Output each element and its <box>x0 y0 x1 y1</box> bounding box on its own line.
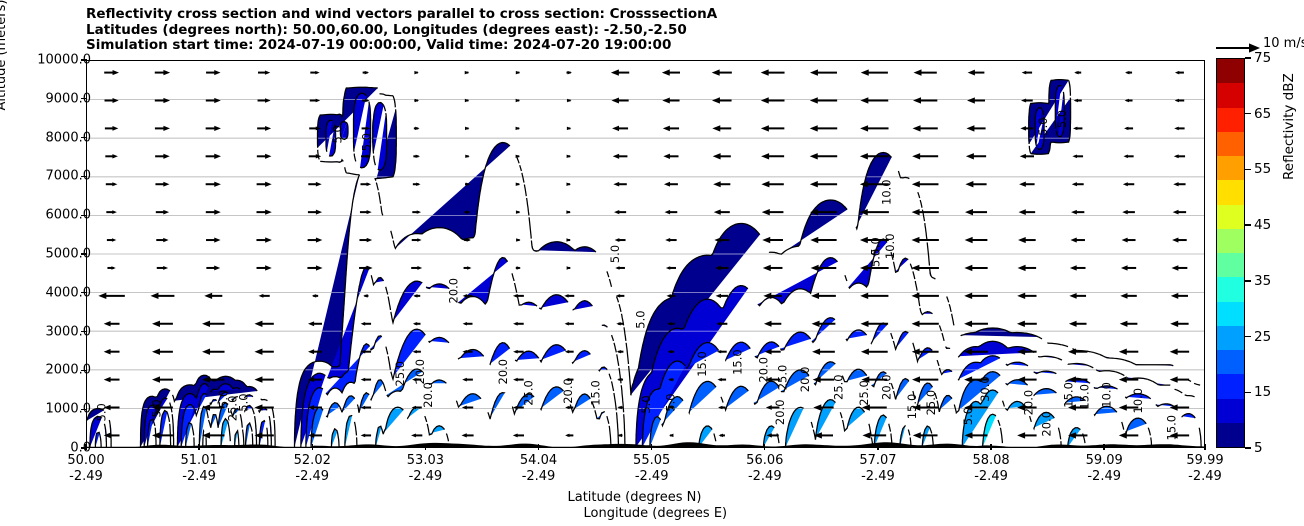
x-tick-longitude: -2.49 <box>861 469 895 484</box>
svg-text:5.0: 5.0 <box>360 133 374 151</box>
x-tick-label: 52.02-2.49 <box>294 453 331 485</box>
x-tick-longitude: -2.49 <box>974 469 1008 484</box>
x-tick-mark <box>990 444 991 450</box>
x-tick-longitude: -2.49 <box>748 469 782 484</box>
y-tick-mark <box>81 176 87 177</box>
colorbar-band <box>1217 180 1244 204</box>
svg-text:5.0: 5.0 <box>961 407 975 425</box>
svg-text:5.0: 5.0 <box>664 393 678 411</box>
colorbar <box>1216 58 1245 448</box>
x-tick-mark <box>85 444 86 450</box>
x-tick-label: 50.00-2.49 <box>67 453 104 485</box>
x-tick-mark <box>764 444 765 450</box>
colorbar-tick-label: 35 <box>1254 273 1271 289</box>
x-tick-label: 55.05-2.49 <box>633 453 670 485</box>
svg-text:5.0: 5.0 <box>95 403 109 421</box>
cross-section-plot: 5.05.05.05.025.05.05.025.020.020.020.025… <box>87 61 1204 447</box>
x-tick-latitude: 50.00 <box>67 453 104 468</box>
colorbar-band <box>1217 277 1244 301</box>
svg-text:25.0: 25.0 <box>831 374 845 400</box>
svg-text:25.0: 25.0 <box>857 380 871 406</box>
x-tick-longitude: -2.49 <box>522 469 556 484</box>
svg-text:25.0: 25.0 <box>924 390 938 416</box>
title-line-2: Latitudes (degrees north): 50.00,60.00, … <box>86 23 1086 39</box>
svg-text:5.0: 5.0 <box>639 395 653 413</box>
x-tick-latitude: 55.05 <box>633 453 670 468</box>
x-tick-longitude: -2.49 <box>409 469 443 484</box>
colorbar-tick-mark <box>1245 169 1251 170</box>
y-tick-mark <box>81 331 87 332</box>
svg-text:10.0: 10.0 <box>883 233 897 259</box>
svg-text:20.0: 20.0 <box>773 399 787 425</box>
colorbar-band <box>1217 253 1244 277</box>
colorbar-tick-label: 75 <box>1254 50 1271 66</box>
svg-text:5.0: 5.0 <box>1055 110 1069 128</box>
svg-text:15.0: 15.0 <box>695 351 709 377</box>
svg-text:10.0: 10.0 <box>1100 382 1114 408</box>
x-tick-mark <box>198 444 199 450</box>
x-tick-latitude: 58.08 <box>972 453 1009 468</box>
svg-text:20.0: 20.0 <box>880 374 894 400</box>
svg-text:20.0: 20.0 <box>1039 411 1053 437</box>
svg-text:20.0: 20.0 <box>561 378 575 404</box>
colorbar-band <box>1217 83 1244 107</box>
svg-text:20.0: 20.0 <box>421 382 435 408</box>
y-tick-mark <box>81 215 87 216</box>
colorbar-band <box>1217 374 1244 398</box>
svg-text:20.0: 20.0 <box>447 278 461 304</box>
colorbar-tick-mark <box>1245 336 1251 337</box>
colorbar-tick-label: 5 <box>1254 440 1263 456</box>
svg-text:20.0: 20.0 <box>798 367 812 393</box>
x-tick-mark <box>877 444 878 450</box>
colorbar-band <box>1217 326 1244 350</box>
svg-text:15.0: 15.0 <box>589 380 603 406</box>
x-tick-label: 58.08-2.49 <box>972 453 1009 485</box>
x-tick-longitude: -2.49 <box>182 469 216 484</box>
colorbar-tick-mark <box>1245 392 1251 393</box>
title-line-1: Reflectivity cross section and wind vect… <box>86 7 1086 23</box>
colorbar-tick-mark <box>1245 57 1251 58</box>
x-tick-latitude: 51.01 <box>181 453 218 468</box>
svg-text:25.0: 25.0 <box>393 361 407 387</box>
x-tick-latitude: 59.09 <box>1086 453 1123 468</box>
x-tick-mark <box>1103 444 1104 450</box>
svg-text:5.0: 5.0 <box>608 245 622 263</box>
svg-text:15.0: 15.0 <box>731 349 745 375</box>
svg-text:20.0: 20.0 <box>496 359 510 385</box>
colorbar-tick-label: 65 <box>1254 106 1271 122</box>
colorbar-band <box>1217 108 1244 132</box>
x-tick-longitude: -2.49 <box>635 469 669 484</box>
svg-text:10.0: 10.0 <box>1131 388 1145 414</box>
x-tick-longitude: -2.49 <box>295 469 329 484</box>
x-tick-latitude: 52.02 <box>294 453 331 468</box>
x-tick-longitude: -2.49 <box>1087 469 1121 484</box>
svg-text:25.0: 25.0 <box>522 380 536 406</box>
y-tick-mark <box>81 409 87 410</box>
svg-text:25.0: 25.0 <box>225 396 239 422</box>
y-tick-mark <box>81 137 87 138</box>
y-tick-mark <box>81 253 87 254</box>
colorbar-band <box>1217 229 1244 253</box>
colorbar-tick-mark <box>1245 113 1251 114</box>
x-tick-mark <box>651 444 652 450</box>
plot-area: 5.05.05.05.025.05.05.025.020.020.020.025… <box>86 60 1205 448</box>
x-tick-label: 59.09-2.49 <box>1086 453 1123 485</box>
x-tick-label: 53.03-2.49 <box>407 453 444 485</box>
colorbar-tick-label: 55 <box>1254 161 1271 177</box>
x-tick-latitude: 54.04 <box>520 453 557 468</box>
colorbar-band <box>1217 59 1244 83</box>
x-tick-latitude: 56.06 <box>746 453 783 468</box>
x-tick-mark <box>312 444 313 450</box>
colorbar-tick-label: 45 <box>1254 217 1271 233</box>
colorbar-band <box>1217 132 1244 156</box>
y-tick-mark <box>81 370 87 371</box>
x-tick-latitude: 59.99 <box>1186 453 1223 468</box>
colorbar-band <box>1217 302 1244 326</box>
colorbar-tick-label: 15 <box>1254 384 1271 400</box>
colorbar-band <box>1217 399 1244 423</box>
svg-text:20.0: 20.0 <box>1022 390 1036 416</box>
title-line-3: Simulation start time: 2024-07-19 00:00:… <box>86 38 1086 54</box>
x-axis-title-longitude: Longitude (degrees E) <box>584 506 728 521</box>
figure-title: Reflectivity cross section and wind vect… <box>86 7 1086 54</box>
colorbar-band <box>1217 205 1244 229</box>
y-axis-title: Altitude (meters) <box>0 0 9 155</box>
figure-canvas: Reflectivity cross section and wind vect… <box>0 0 1304 526</box>
svg-text:5.0: 5.0 <box>331 125 345 143</box>
x-tick-mark <box>425 444 426 450</box>
x-tick-label: 57.07-2.49 <box>859 453 896 485</box>
svg-text:5.0: 5.0 <box>634 310 648 328</box>
svg-text:25.0: 25.0 <box>776 365 790 391</box>
y-tick-mark <box>81 292 87 293</box>
x-tick-longitude: -2.49 <box>1188 469 1222 484</box>
x-tick-latitude: 57.07 <box>859 453 896 468</box>
svg-text:15.0: 15.0 <box>1062 382 1076 408</box>
y-tick-mark <box>81 98 87 99</box>
colorbar-tick-label: 25 <box>1254 329 1271 345</box>
x-tick-longitude: -2.49 <box>69 469 103 484</box>
x-tick-latitude: 53.03 <box>407 453 444 468</box>
x-tick-label: 59.99-2.49 <box>1186 453 1223 485</box>
svg-text:5.0: 5.0 <box>1036 117 1050 135</box>
colorbar-tick-mark <box>1245 447 1251 448</box>
x-tick-mark <box>1204 444 1205 450</box>
x-tick-label: 54.04-2.49 <box>520 453 557 485</box>
y-tick-mark <box>81 59 87 60</box>
x-axis-title-latitude: Latitude (degrees N) <box>568 490 702 505</box>
colorbar-band <box>1217 350 1244 374</box>
colorbar-tick-mark <box>1245 224 1251 225</box>
svg-text:15.0: 15.0 <box>1077 384 1091 410</box>
x-tick-mark <box>538 444 539 450</box>
colorbar-tick-mark <box>1245 280 1251 281</box>
x-tick-label: 56.06-2.49 <box>746 453 783 485</box>
x-tick-label: 51.01-2.49 <box>181 453 218 485</box>
colorbar-band <box>1217 423 1244 447</box>
colorbar-band <box>1217 156 1244 180</box>
colorbar-title: Reflectivity dBZ <box>1281 20 1297 180</box>
